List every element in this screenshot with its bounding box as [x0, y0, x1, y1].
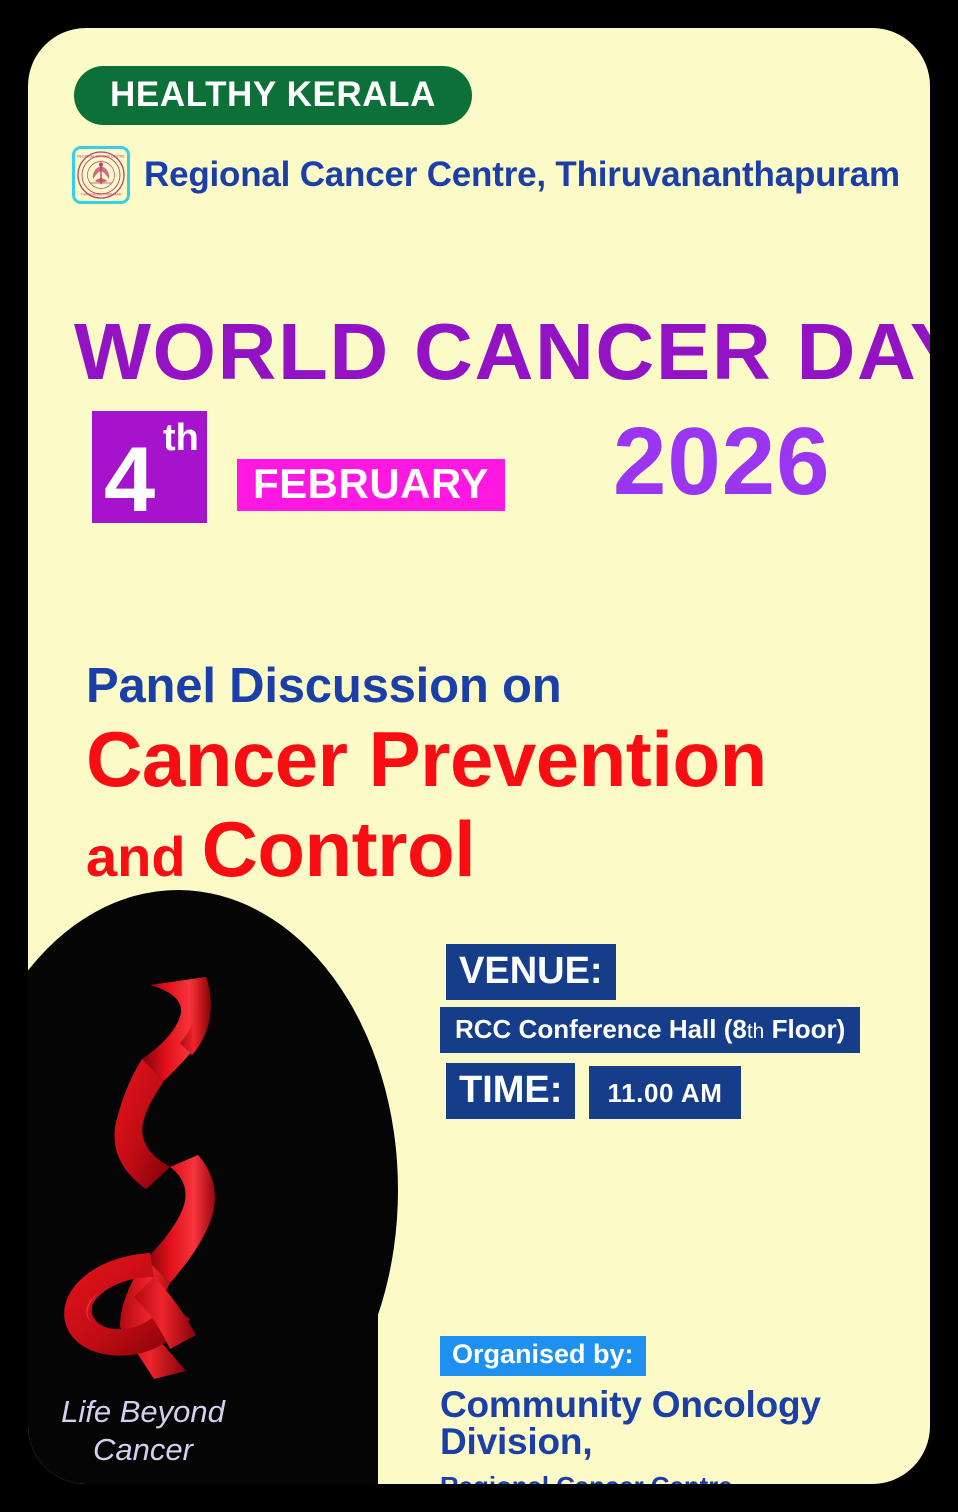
time-value: 11.00 AM	[589, 1066, 740, 1119]
year-label: 2026	[613, 414, 831, 510]
venue-value-ordinal: th	[747, 1020, 765, 1043]
time-label: TIME:	[446, 1063, 575, 1119]
event-topic-line1: Cancer Prevention	[86, 720, 767, 798]
institution-name: Regional Cancer Centre, Thiruvananthapur…	[144, 155, 900, 195]
healthy-kerala-badge: HEALTHY KERALA	[74, 66, 472, 125]
svg-text:THIRUVANANTHAPURAM: THIRUVANANTHAPURAM	[81, 193, 122, 197]
poster-panel: HEALTHY KERALA REGIONAL CANCER CENTRE TH…	[28, 28, 930, 1484]
venue-value: RCC Conference Hall (8th Floor)	[440, 1007, 860, 1053]
day-suffix: th	[163, 419, 199, 457]
tagline-line-1: Life Beyond	[48, 1393, 238, 1431]
page-title: WORLD CANCER DAY	[74, 312, 930, 392]
organised-by-label: Organised by:	[440, 1336, 646, 1376]
event-topic-conjunction: and	[86, 829, 186, 885]
institution-row: REGIONAL CANCER CENTRE THIRUVANANTHAPURA…	[72, 146, 900, 204]
event-topic-line2-row: and Control	[86, 810, 475, 888]
organiser-block: Organised by: Community Oncology Divisio…	[440, 1336, 930, 1484]
venue-label: VENUE:	[446, 944, 616, 1000]
event-date-row: 4 th FEBRUARY	[92, 411, 505, 523]
tagline-line-2: Cancer	[48, 1431, 238, 1469]
venue-value-main: RCC Conference Hall (8	[455, 1014, 747, 1044]
awareness-ribbon-icon	[38, 963, 318, 1383]
month-label: FEBRUARY	[253, 463, 489, 505]
venue-value-tail: Floor)	[764, 1014, 845, 1044]
ribbon-tagline: Life Beyond Cancer	[48, 1393, 238, 1469]
poster-root: HEALTHY KERALA REGIONAL CANCER CENTRE TH…	[0, 0, 958, 1512]
organiser-name: Community Oncology Division,	[440, 1386, 930, 1460]
month-block: FEBRUARY	[237, 459, 505, 511]
day-number: 4	[104, 434, 155, 526]
rcc-logo-icon: REGIONAL CANCER CENTRE THIRUVANANTHAPURA…	[72, 146, 130, 204]
day-block: 4 th	[92, 411, 207, 523]
svg-text:REGIONAL CANCER CENTRE: REGIONAL CANCER CENTRE	[77, 155, 125, 159]
time-row: TIME: 11.00 AM	[446, 1063, 930, 1119]
event-details: VENUE: RCC Conference Hall (8th Floor) T…	[416, 944, 930, 1119]
event-topic-line2: Control	[202, 810, 476, 888]
organiser-sub: Regional Cancer Centre, Thiruvananthapur…	[440, 1473, 930, 1484]
event-prefix: Panel Discussion on	[86, 662, 561, 711]
